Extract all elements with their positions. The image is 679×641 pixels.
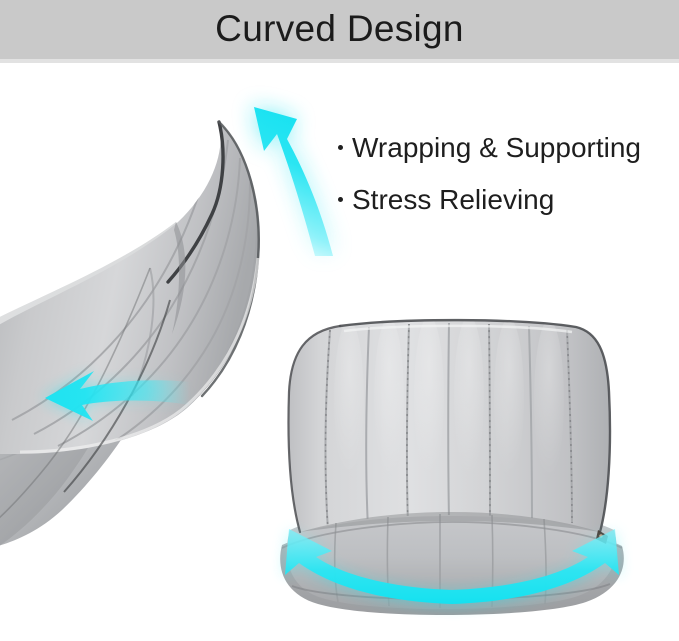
backrest-upward-arrow [252, 106, 334, 256]
feature-label: Stress Relieving [352, 185, 554, 214]
chair-front-view [280, 316, 624, 615]
header-divider [0, 59, 679, 63]
header-band: Curved Design [0, 0, 679, 59]
brand-tag-icon [596, 530, 608, 544]
bullet-dot-icon [338, 197, 343, 202]
list-item: Stress Relieving [338, 185, 668, 214]
page-title: Curved Design [215, 10, 464, 50]
list-item: Wrapping & Supporting [338, 133, 668, 162]
seat-forward-arrow [44, 371, 190, 421]
feature-label: Wrapping & Supporting [352, 133, 641, 162]
seat-spread-arrow [284, 529, 620, 606]
feature-list: Wrapping & Supporting Stress Relieving [338, 133, 668, 238]
bullet-dot-icon [338, 145, 343, 150]
chair-side-view [0, 122, 260, 552]
product-illustration [0, 0, 679, 641]
product-feature-image: Curved Design [0, 0, 679, 641]
